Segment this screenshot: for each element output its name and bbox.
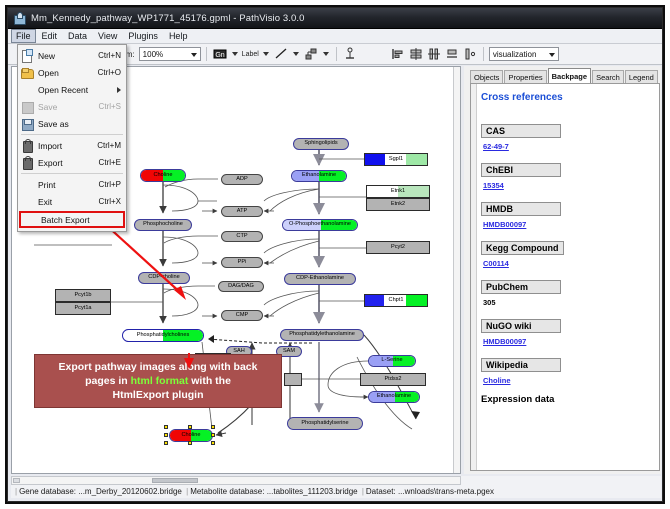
toolbar-separator-3 [483, 47, 484, 61]
panel-left-gutter [471, 84, 477, 471]
status-text: |Gene database: ...m_Derby_20120602.brid… [13, 487, 494, 496]
menu-item-label: Save [38, 102, 99, 112]
node-label: Sphingolipids [304, 141, 337, 147]
toolbar-separator [206, 47, 207, 61]
gene-label: Ptdss2 [384, 377, 401, 383]
node-label: Phosphocholine [143, 222, 183, 228]
shape-dropdown-icon[interactable] [323, 52, 329, 56]
xref-value-link[interactable]: 15354 [483, 181, 655, 190]
menu-data[interactable]: Data [63, 29, 92, 43]
selection-handle[interactable] [164, 425, 168, 429]
xref-wikipedia: Wikipedia Choline [481, 355, 655, 385]
node-atp[interactable]: ATP [221, 206, 263, 217]
selection-handle[interactable] [188, 441, 192, 445]
export-icon [20, 156, 34, 169]
node-label: L-Serine [381, 358, 402, 364]
node-label: Choline [182, 433, 201, 439]
window-title: Mm_Kennedy_pathway_WP1771_45176.gpml - P… [31, 13, 305, 24]
node-label: SAM [283, 349, 295, 355]
node-ethanolamine-1[interactable]: Ethanolamine [291, 170, 347, 182]
selection-handle[interactable] [164, 433, 168, 437]
node-label: Choline [154, 173, 173, 179]
status-gene-db-value: ...m_Derby_20120602.bridge [78, 487, 182, 496]
node-cmp[interactable]: CMP [221, 310, 263, 321]
chevron-down-icon [191, 53, 197, 57]
line-dropdown-icon[interactable] [293, 52, 299, 56]
callout-line3: HtmlExport plugin [113, 389, 204, 401]
gene-etnk1[interactable]: Etnk1 [366, 185, 430, 198]
node-phosphatidylethanolamine[interactable]: Phosphatidylethanolamine [280, 329, 364, 341]
save-disk-icon [20, 100, 34, 113]
node-cdp-ethanolamine[interactable]: CDP-Ethanolamine [284, 273, 356, 285]
anchor-icon[interactable] [342, 46, 358, 62]
node-ethanolamine-2[interactable]: Ethanolamine [368, 391, 420, 403]
xref-kegg-compound: Kegg Compound C00114 [481, 238, 655, 268]
gene-sgpl1[interactable]: Sgpl1 [364, 153, 428, 166]
xref-db-label: CAS [481, 124, 561, 138]
xref-db-label: NuGO wiki [481, 319, 561, 333]
xref-cas: CAS 62-49-7 [481, 121, 655, 151]
file-menu-item-print[interactable]: Print Ctrl+P [18, 176, 126, 193]
tab-backpage[interactable]: Backpage [548, 68, 591, 83]
import-icon [20, 139, 34, 152]
gene-pcyt1b[interactable]: Pcyt1b [55, 289, 111, 302]
gene-ptdss2[interactable]: Ptdss2 [360, 373, 426, 386]
cross-references-list: Cross references CAS 62-49-7 ChEBI 15354… [481, 92, 655, 405]
pathvisio-window: Mm_Kennedy_pathway_WP1771_45176.gpml - P… [7, 7, 663, 502]
gene-label: Pcyt1b [74, 293, 91, 299]
node-l-serine[interactable]: L-Serine [368, 355, 416, 367]
shape-icon[interactable] [303, 46, 319, 62]
node-sphingolipids[interactable]: Sphingolipids [293, 138, 349, 150]
callout-line2-b: with the [188, 375, 231, 387]
tab-objects[interactable]: Objects [470, 70, 503, 83]
stack-icon[interactable] [444, 46, 460, 62]
align-center-icon[interactable] [408, 46, 424, 62]
menu-item-label: Import [38, 141, 97, 151]
xref-chebi: ChEBI 15354 [481, 160, 655, 190]
tab-legend[interactable]: Legend [625, 70, 658, 83]
panel-tabstrip: Objects Properties Backpage Search Legen… [470, 68, 660, 83]
xref-pubchem: PubChem 305 [481, 277, 655, 307]
menu-divider [21, 134, 123, 135]
file-menu-item-save: Save Ctrl+S [18, 98, 126, 115]
svg-text:Gn: Gn [215, 52, 224, 59]
group-icon[interactable] [462, 46, 478, 62]
new-document-icon [20, 49, 34, 62]
no-icon [20, 178, 34, 191]
align-left-icon[interactable] [390, 46, 406, 62]
menu-item-label: Save as [38, 119, 121, 129]
xref-value-link[interactable]: C00114 [483, 259, 655, 268]
submenu-arrow-icon [117, 87, 121, 93]
chevron-down-icon-2 [549, 53, 555, 57]
status-metabolite-db-label: Metabolite database: [190, 487, 264, 496]
gene-chpt1[interactable]: Chpt1 [364, 294, 428, 307]
menu-item-label: Batch Export [41, 215, 123, 225]
zoom-value: 100% [143, 50, 163, 59]
file-menu-item-save-as[interactable]: Save as [18, 115, 126, 132]
zoom-select[interactable]: 100% [139, 47, 201, 61]
gene-label: Pcyt1a [74, 306, 91, 312]
file-menu-item-exit[interactable]: Exit Ctrl+X [18, 193, 126, 210]
file-menu-dropdown[interactable]: New Ctrl+N Open Ctrl+O Open Recent Save … [17, 44, 127, 232]
callout-line1: Export pathway images along with back [59, 361, 258, 373]
node-choline-top[interactable]: Choline [140, 169, 186, 182]
node-label: Phosphatidylethanolamine [289, 332, 355, 338]
label-dropdown-icon[interactable] [263, 52, 269, 56]
menu-view[interactable]: View [93, 29, 122, 43]
gene-pcyt2[interactable]: Pcyt2 [366, 241, 430, 254]
xref-db-label: PubChem [481, 280, 561, 294]
tab-search[interactable]: Search [592, 70, 624, 83]
node-ppi[interactable]: PPi [221, 257, 263, 268]
menu-bar: File Edit Data View Plugins Help [8, 29, 663, 44]
menu-item-label: Exit [38, 197, 99, 207]
menu-plugins[interactable]: Plugins [123, 29, 163, 43]
node-label: ADP [236, 177, 248, 183]
gene-pcyt1a[interactable]: Pcyt1a [55, 302, 111, 315]
tab-properties[interactable]: Properties [504, 70, 546, 83]
file-menu-item-import[interactable]: Import Ctrl+M [18, 137, 126, 154]
xref-value-link[interactable]: HMDB00097 [483, 220, 655, 229]
callout-line2-a: pages in [85, 375, 131, 387]
xref-db-label: ChEBI [481, 163, 561, 177]
gene-product-dropdown-icon[interactable] [232, 52, 238, 56]
xref-db-label: Wikipedia [481, 358, 561, 372]
menu-edit[interactable]: Edit [37, 29, 63, 43]
node-label: Phosphatidylcholines [137, 333, 190, 339]
no-icon [20, 195, 34, 208]
node-label: CDP-choline [148, 275, 179, 281]
annotation-callout: Export pathway images along with back pa… [34, 354, 282, 408]
menu-file[interactable]: File [11, 29, 36, 43]
selection-handle[interactable] [164, 441, 168, 445]
node-label: O-Phosphoethanolamine [289, 222, 351, 228]
menu-item-label: Open Recent [38, 85, 117, 95]
menu-item-label: Export [38, 158, 99, 168]
no-icon [23, 213, 37, 226]
node-ctp[interactable]: CTP [221, 231, 263, 242]
xref-db-label: Kegg Compound [481, 241, 564, 255]
status-dataset-value: ...wnloads\trans-meta.pgex [398, 487, 494, 496]
selection-handle[interactable] [188, 425, 192, 429]
menu-help[interactable]: Help [164, 29, 193, 43]
open-folder-icon [20, 66, 34, 79]
pathvisio-icon [13, 12, 26, 25]
node-label: ATP [237, 209, 247, 215]
scrollbar-thumb[interactable] [152, 478, 198, 483]
gene-label: Etnk2 [391, 202, 405, 208]
file-menu-item-export[interactable]: Export Ctrl+E [18, 154, 126, 171]
node-label: Ethanolamine [302, 173, 336, 179]
node-dag[interactable]: DAG/DAG [218, 281, 264, 292]
node-label: Phosphatidylserine [301, 421, 348, 427]
xref-hmdb: HMDB HMDB00097 [481, 199, 655, 229]
menu-item-accelerator: Ctrl+X [99, 197, 126, 206]
xref-value-link[interactable]: HMDB00097 [483, 337, 655, 346]
gene-etnk2[interactable]: Etnk2 [366, 198, 430, 211]
gene-label: Pcyt2 [391, 245, 405, 251]
node-phosphocholine[interactable]: Phosphocholine [134, 219, 192, 231]
xref-value-link[interactable]: Choline [483, 376, 655, 385]
node-label: Ethanolamine [377, 394, 411, 400]
menu-item-label: New [38, 51, 98, 61]
file-menu-item-batch-export[interactable]: Batch Export [19, 211, 125, 228]
node-phosphatidylcholines[interactable]: Phosphatidylcholines [122, 329, 204, 342]
status-metabolite-db-value: ...tabolites_111203.bridge [267, 487, 358, 496]
selection-handle[interactable] [211, 425, 215, 429]
node-o-phosphoethanolamine[interactable]: O-Phosphoethanolamine [282, 219, 358, 231]
file-menu-item-open[interactable]: Open Ctrl+O [18, 64, 126, 81]
canvas-vertical-scrollbar[interactable] [453, 67, 461, 474]
title-bar: Mm_Kennedy_pathway_WP1771_45176.gpml - P… [8, 8, 663, 29]
gene-label: Chpt1 [389, 298, 404, 304]
node-label: CDP-Ethanolamine [296, 276, 344, 282]
label-button[interactable]: Label [242, 51, 259, 58]
align-middle-icon[interactable] [426, 46, 442, 62]
node-label: CMP [236, 313, 248, 319]
no-icon [20, 83, 34, 96]
canvas-horizontal-scrollbar[interactable] [11, 476, 461, 485]
gene-label: Etnk1 [391, 189, 405, 195]
callout-line2-highlight: html format [131, 375, 189, 387]
node-label: CTP [236, 234, 247, 240]
visualization-select[interactable]: visualization [489, 47, 559, 61]
xref-nugo-wiki: NuGO wiki HMDB00097 [481, 316, 655, 346]
backpage-content: Cross references CAS 62-49-7 ChEBI 15354… [470, 83, 660, 471]
visualization-value: visualization [493, 50, 537, 59]
cross-references-heading: Cross references [481, 92, 655, 103]
xref-value-link[interactable]: 62-49-7 [483, 142, 655, 151]
menu-item-accelerator: Ctrl+M [97, 141, 126, 150]
status-bar: |Gene database: ...m_Derby_20120602.brid… [11, 476, 661, 498]
screenshot-root: Mm_Kennedy_pathway_WP1771_45176.gpml - P… [0, 0, 670, 509]
menu-item-accelerator: Ctrl+E [99, 158, 126, 167]
gene-label: Sgpl1 [389, 157, 403, 163]
selection-handle[interactable] [211, 441, 215, 445]
node-adp[interactable]: ADP [221, 174, 263, 185]
menu-item-accelerator: Ctrl+P [99, 180, 126, 189]
gene-product-icon[interactable]: Gn [212, 46, 228, 62]
menu-item-accelerator: Ctrl+O [98, 68, 126, 77]
group-handle-box[interactable] [284, 373, 302, 386]
node-label: DAG/DAG [228, 284, 254, 290]
node-label: PPi [238, 260, 247, 266]
status-gene-db-label: Gene database: [19, 487, 76, 496]
expression-data-heading: Expression data [481, 394, 655, 405]
file-menu-item-new[interactable]: New Ctrl+N [18, 47, 126, 64]
backpage-panel: Objects Properties Backpage Search Legen… [464, 66, 661, 474]
line-icon[interactable] [273, 46, 289, 62]
menu-item-accelerator: Ctrl+S [99, 102, 126, 111]
menu-item-accelerator: Ctrl+N [98, 51, 126, 60]
status-dataset-label: Dataset: [366, 487, 396, 496]
scroll-left-button[interactable] [13, 478, 20, 483]
menu-item-label: Print [38, 180, 99, 190]
xref-db-label: HMDB [481, 202, 561, 216]
toolbar-separator-2 [336, 47, 337, 61]
node-phosphatidylserine[interactable]: Phosphatidylserine [287, 417, 363, 430]
node-cdp-choline[interactable]: CDP-choline [138, 272, 190, 284]
selection-handle[interactable] [211, 433, 215, 437]
save-as-icon [20, 117, 34, 130]
xref-value-text: 305 [483, 298, 655, 307]
file-menu-item-open-recent[interactable]: Open Recent [18, 81, 126, 98]
menu-divider [21, 173, 123, 174]
menu-item-label: Open [38, 68, 98, 78]
